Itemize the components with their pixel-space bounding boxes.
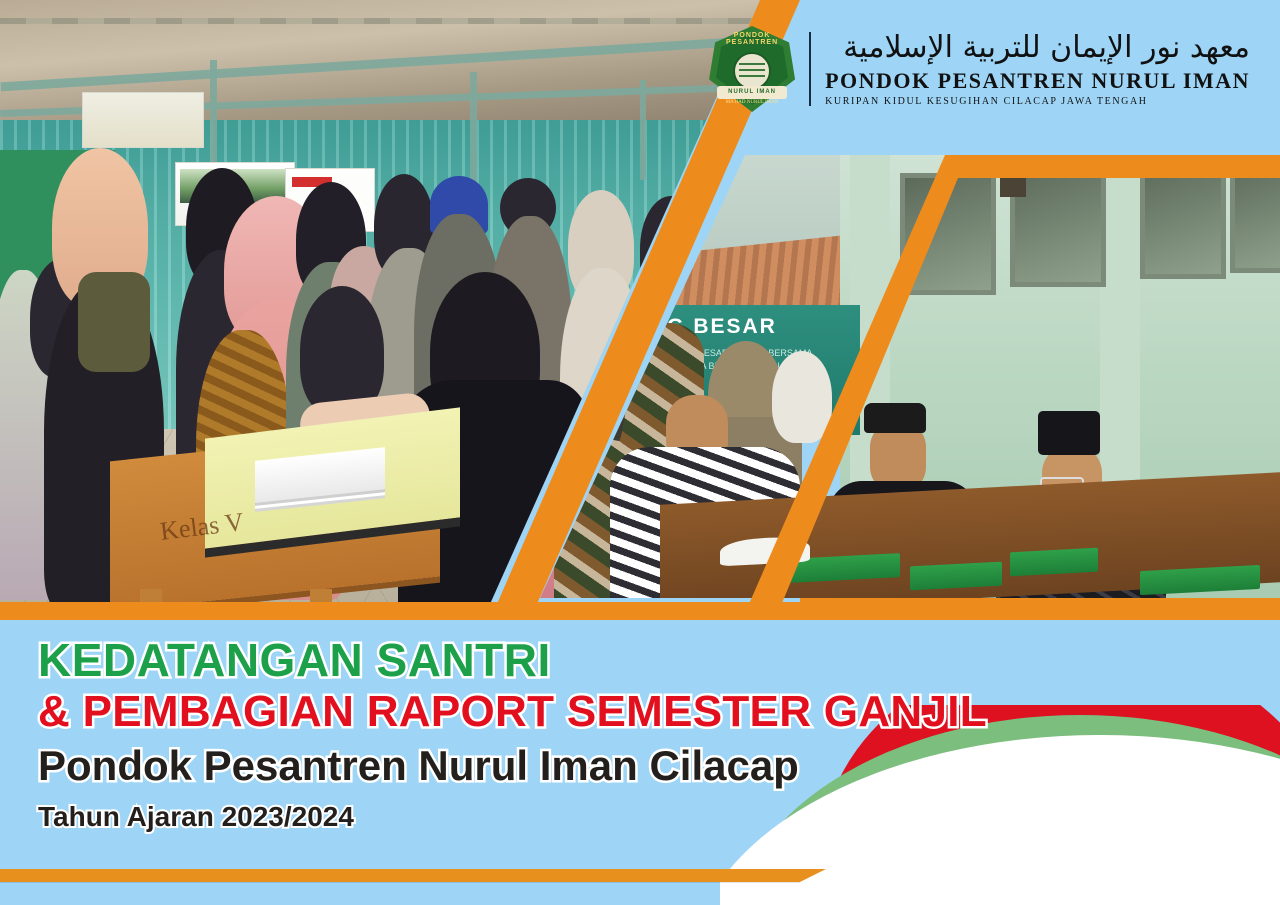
wall-banner-annisa — [82, 92, 204, 148]
brand-name: PONDOK PESANTREN NURUL IMAN — [825, 68, 1250, 94]
green-folder — [910, 562, 1002, 591]
title-line-tahun-ajaran: Tahun Ajaran 2023/2024 — [38, 799, 1068, 835]
brand-divider — [809, 32, 811, 106]
title-line-kedatangan-santri: KEDATANGAN SANTRI — [38, 636, 1068, 685]
title-block: KEDATANGAN SANTRI & PEMBAGIAN RAPORT SEM… — [38, 636, 1068, 836]
orange-bar-under-left-photo — [0, 602, 800, 620]
ceiling-post-3 — [640, 80, 646, 180]
title-line-pondok-pesantren: Pondok Pesantren Nurul Iman Cilacap — [38, 740, 1068, 791]
crest-ribbon-text: NURUL IMAN — [717, 86, 787, 99]
crest-sub-text: MA'HAD NURUL IMAN — [709, 100, 795, 105]
wall-lamp-icon — [1000, 167, 1026, 197]
brand-address: KURIPAN KIDUL KESUGIHAN CILACAP JAWA TEN… — [825, 96, 1250, 107]
poster-canvas: Kelas V NG BESAR APA ITU PEDAGANG BESAR.… — [0, 0, 1280, 905]
building-window-3 — [1140, 161, 1226, 279]
green-folder — [1010, 548, 1098, 577]
crest-arc-text: PONDOK PESANTREN — [709, 32, 795, 46]
title-line-pembagian-raport: & PEMBAGIAN RAPORT SEMESTER GANJIL — [38, 687, 1068, 736]
peci-cap — [1038, 411, 1100, 455]
pesantren-crest-logo: PONDOK PESANTREN NURUL IMAN MA'HAD NURUL… — [709, 26, 795, 112]
brand-lockup: PONDOK PESANTREN NURUL IMAN MA'HAD NURUL… — [709, 26, 1250, 112]
ceiling-post-2 — [470, 72, 477, 182]
crest-globe-icon — [733, 52, 771, 90]
building-window-1 — [900, 173, 996, 295]
brand-arabic-name: معهد نور الإيمان للتربية الإسلامية — [825, 31, 1250, 66]
orange-bar-under-right-photo — [800, 598, 1280, 620]
brand-wordmark: معهد نور الإيمان للتربية الإسلامية PONDO… — [825, 31, 1250, 107]
bag-shape — [78, 272, 150, 372]
woman-hijab-white — [772, 351, 832, 443]
building-window-4 — [1230, 159, 1280, 273]
bottom-orange-rule — [0, 869, 800, 882]
songkok-cap-2 — [864, 403, 926, 433]
